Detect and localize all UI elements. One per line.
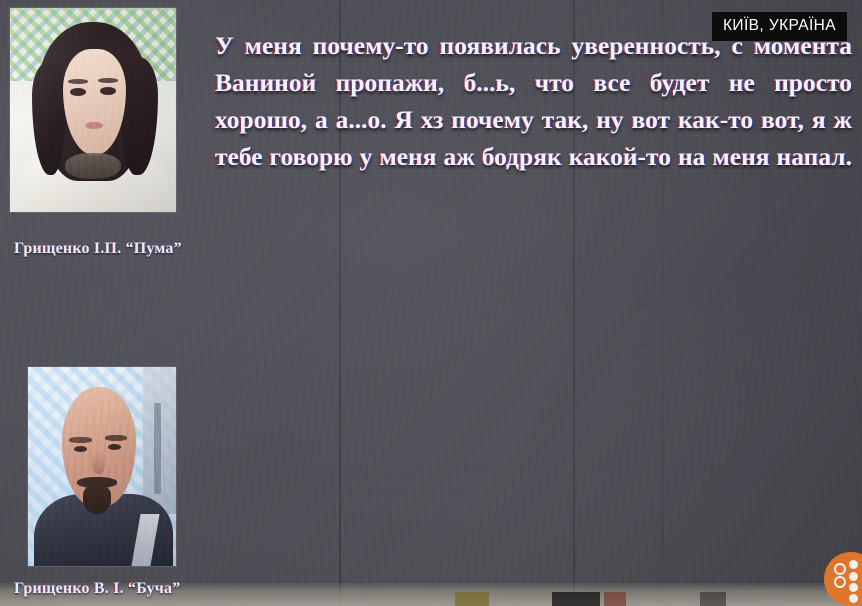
- quote-word: будет: [650, 64, 710, 101]
- quote-word: просто: [774, 64, 852, 101]
- quote-word: меня: [245, 27, 302, 64]
- portrait-photo-bucha: [28, 367, 176, 566]
- quote-word: уверенность,: [571, 27, 720, 64]
- broadcast-screenshot: Грищенко І.П. “Пума” Грищенко В. І. “Буч…: [0, 0, 862, 606]
- quote-word: У: [215, 27, 234, 64]
- location-badge: КИЇВ, УКРАЇНА: [712, 12, 847, 41]
- desk-object: [604, 592, 626, 606]
- quote-word: Ваниной: [215, 64, 316, 101]
- quote-text-block: У меня почему-то появилась уверенность, …: [215, 27, 852, 175]
- logo-dot-ring: [834, 576, 846, 588]
- logo-dot-ring: [834, 563, 846, 575]
- broadcaster-logo: [824, 552, 862, 606]
- logo-dot: [849, 560, 858, 569]
- logo-dot: [849, 583, 858, 592]
- quote-line-4: тебе говорю у меня аж бодряк какой-то на…: [215, 138, 852, 175]
- quote-line-3: хорошо, а а...о. Я хз почему так, ну вот…: [215, 101, 852, 138]
- portrait-caption-bucha: Грищенко В. І. “Буча”: [14, 580, 180, 598]
- logo-dots: [824, 552, 862, 606]
- logo-dot: [849, 572, 858, 581]
- quote-word: почему-то: [313, 27, 429, 64]
- photo-glare-overlay: [10, 8, 176, 212]
- quote-word: что: [535, 64, 574, 101]
- logo-dot: [849, 594, 858, 603]
- quote-word: появилась: [440, 27, 561, 64]
- quote-word: пропажи,: [336, 64, 445, 101]
- quote-word: все: [593, 64, 630, 101]
- quote-word: не: [729, 64, 755, 101]
- quote-word: б...ь,: [464, 64, 516, 101]
- quote-line-2: Ваниной пропажи, б...ь, что все будет не…: [215, 64, 852, 101]
- photo-glare-overlay: [28, 367, 176, 566]
- desk-object: [700, 592, 726, 606]
- desk-object: [455, 592, 489, 606]
- portrait-caption-puma: Грищенко І.П. “Пума”: [14, 240, 182, 258]
- desk-object: [552, 592, 600, 606]
- portrait-photo-puma: [10, 8, 176, 212]
